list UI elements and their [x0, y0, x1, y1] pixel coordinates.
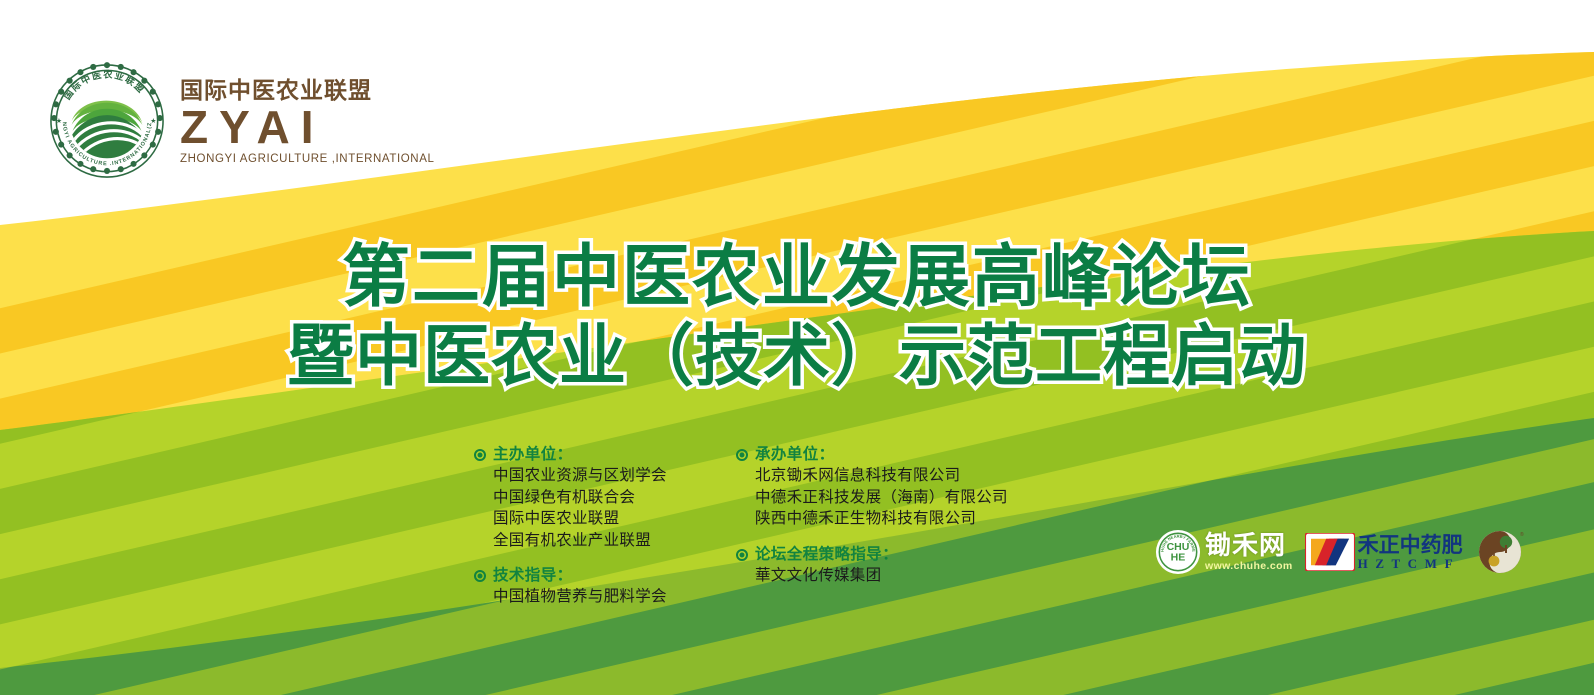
svg-text:★: ★	[56, 118, 62, 125]
bullet-ring-icon	[474, 449, 486, 461]
credit-item: 陕西中德禾正生物科技有限公司	[755, 508, 1036, 530]
org-name-cn: 国际中医农业联盟	[180, 80, 434, 103]
hzt-name-en: H Z T C M F	[1358, 557, 1463, 570]
svg-text:HE: HE	[1171, 552, 1186, 564]
hzt-name-cn: 禾正中药肥	[1358, 535, 1463, 556]
credit-item: 華文文化传媒集团	[755, 565, 1036, 587]
poster-canvas: 国际中医农业联盟 ZHONGYI AGRICULTURE .INTERNATIO…	[0, 0, 1594, 695]
credit-heading: 技术指导：	[474, 565, 736, 586]
bullet-ring-icon	[736, 549, 748, 561]
credit-heading-label: 论坛全程策略指导：	[755, 544, 898, 565]
chuhe-wordmark: 锄禾网 www.chuhe.com	[1205, 533, 1293, 572]
sponsor-logos: CHU HE CHUHE NEARBY FARMER 锄禾网 www.chuhe…	[1155, 526, 1527, 578]
credit-heading-label: 主办单位：	[493, 444, 573, 465]
credit-items: 中国植物营养与肥料学会	[493, 586, 736, 608]
credit-heading-label: 承办单位：	[755, 444, 835, 465]
sponsor-chuhe: CHU HE CHUHE NEARBY FARMER 锄禾网 www.chuhe…	[1155, 529, 1293, 575]
credit-item: 中国绿色有机联合会	[493, 487, 736, 509]
svg-text:★: ★	[150, 118, 156, 125]
credit-heading-label: 技术指导：	[493, 565, 573, 586]
zyai-wordmark: 国际中医农业联盟 ZYAI ZHONGYI AGRICULTURE ,INTER…	[180, 76, 434, 165]
credit-items: 華文文化传媒集团	[755, 565, 1036, 587]
credit-heading: 论坛全程策略指导：	[736, 544, 1036, 565]
bullet-ring-icon	[474, 570, 486, 582]
credits-column-right: 承办单位： 北京锄禾网信息科技有限公司 中德禾正科技发展（海南）有限公司 陕西中…	[736, 444, 1036, 622]
credits-column-left: 主办单位： 中国农业资源与区划学会 中国绿色有机联合会 国际中医农业联盟 全国有…	[474, 444, 736, 622]
hzt-z-icon	[1305, 533, 1355, 571]
credit-item: 北京锄禾网信息科技有限公司	[755, 465, 1036, 487]
credit-item: 中德禾正科技发展（海南）有限公司	[755, 487, 1036, 509]
svg-text:®: ®	[1520, 531, 1524, 538]
tree-root-circle-icon: ®	[1475, 526, 1527, 578]
credit-group: 论坛全程策略指导： 華文文化传媒集团	[736, 544, 1036, 587]
chuhe-circle-icon: CHU HE CHUHE NEARBY FARMER	[1155, 529, 1201, 575]
credit-item: 国际中医农业联盟	[493, 508, 736, 530]
chuhe-url: www.chuhe.com	[1205, 561, 1293, 572]
org-abbr: ZYAI	[180, 106, 434, 150]
credit-group: 承办单位： 北京锄禾网信息科技有限公司 中德禾正科技发展（海南）有限公司 陕西中…	[736, 444, 1036, 530]
credit-heading: 主办单位：	[474, 444, 736, 465]
credit-group: 技术指导： 中国植物营养与肥料学会	[474, 565, 736, 608]
credit-items: 北京锄禾网信息科技有限公司 中德禾正科技发展（海南）有限公司 陕西中德禾正生物科…	[755, 465, 1036, 530]
org-name-en: ZHONGYI AGRICULTURE ,INTERNATIONAL	[180, 154, 434, 166]
credits-block: 主办单位： 中国农业资源与区划学会 中国绿色有机联合会 国际中医农业联盟 全国有…	[474, 444, 1036, 622]
credit-group: 主办单位： 中国农业资源与区划学会 中国绿色有机联合会 国际中医农业联盟 全国有…	[474, 444, 736, 551]
credit-item: 中国农业资源与区划学会	[493, 465, 736, 487]
chuhe-name-cn: 锄禾网	[1205, 533, 1293, 559]
sponsor-hzt: 禾正中药肥 H Z T C M F	[1305, 533, 1463, 571]
credit-heading: 承办单位：	[736, 444, 1036, 465]
hzt-wordmark: 禾正中药肥 H Z T C M F	[1358, 535, 1463, 570]
credit-items: 中国农业资源与区划学会 中国绿色有机联合会 国际中医农业联盟 全国有机农业产业联…	[493, 465, 736, 551]
sponsor-tree-root: ®	[1475, 526, 1527, 578]
bullet-ring-icon	[736, 449, 748, 461]
zyai-circular-emblem-icon: 国际中医农业联盟 ZHONGYI AGRICULTURE .INTERNATIO…	[48, 62, 166, 180]
credit-item: 全国有机农业产业联盟	[493, 530, 736, 552]
header-logo-block: 国际中医农业联盟 ZHONGYI AGRICULTURE .INTERNATIO…	[48, 62, 434, 180]
credit-item: 中国植物营养与肥料学会	[493, 586, 736, 608]
